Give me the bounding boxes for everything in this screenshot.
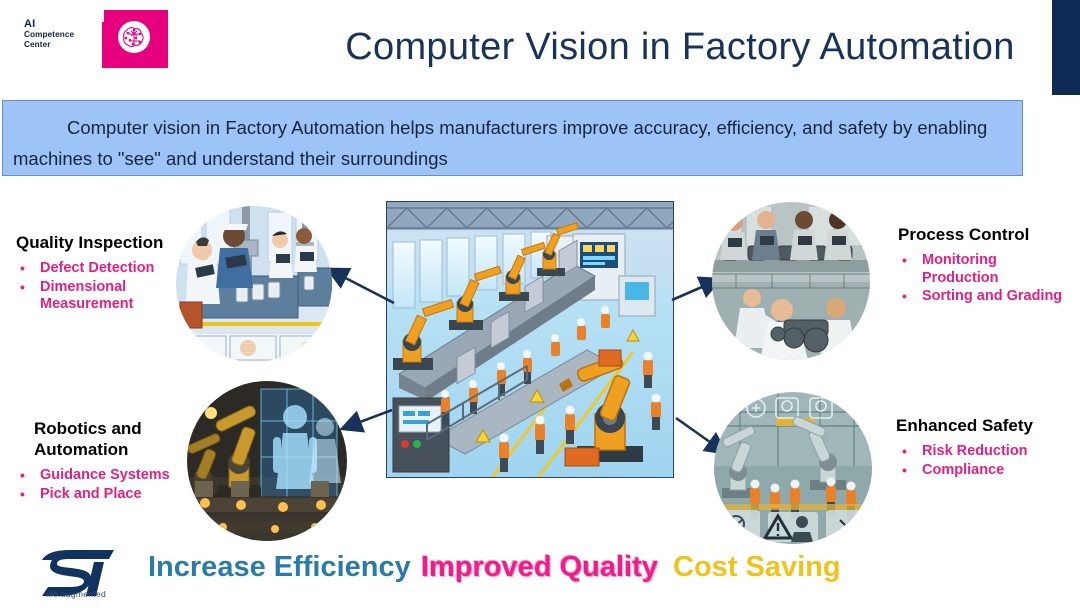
brain-network-icon bbox=[88, 10, 168, 68]
bullet-dot-icon: • bbox=[902, 288, 907, 306]
slide: AI Competence Center Computer Vision in … bbox=[0, 0, 1080, 608]
list-item: •Risk Reduction bbox=[896, 443, 1076, 461]
bullet-dot-icon: • bbox=[902, 252, 907, 270]
arrow-to-robotics bbox=[344, 410, 392, 428]
process-control-image bbox=[712, 202, 870, 360]
ai-competence-center-logo: AI Competence Center bbox=[14, 8, 174, 70]
logo-line-ai: AI bbox=[24, 18, 86, 30]
bullet-dot-icon: • bbox=[902, 462, 907, 480]
arrow-to-quality bbox=[330, 270, 394, 303]
panel-title-process-control: Process Control bbox=[896, 224, 1076, 245]
bullet-label: Sorting and Grading bbox=[922, 288, 1062, 304]
list-item: •Compliance bbox=[896, 462, 1076, 480]
bullet-label: Pick and Place bbox=[40, 486, 142, 502]
bullet-label: Compliance bbox=[922, 462, 1004, 478]
panel-bullets-robotics-automation: •Guidance Systems •Pick and Place bbox=[14, 467, 199, 503]
panel-robotics-automation: Robotics and Automation •Guidance System… bbox=[14, 418, 199, 504]
bullet-label: Monitoring Production bbox=[922, 252, 999, 286]
list-item: •Guidance Systems bbox=[14, 467, 199, 485]
bullet-dot-icon: • bbox=[902, 443, 907, 461]
list-item: •Dimensional Measurement bbox=[14, 279, 194, 314]
list-item: •Pick and Place bbox=[14, 486, 199, 504]
logo-line-competence: Competence bbox=[24, 30, 86, 40]
panel-enhanced-safety: Enhanced Safety •Risk Reduction •Complia… bbox=[896, 415, 1076, 480]
panel-bullets-quality-inspection: •Defect Detection •Dimensional Measureme… bbox=[14, 260, 194, 314]
footer-benefit-improved-quality: Improved Quality bbox=[421, 551, 658, 584]
list-item: •Defect Detection bbox=[14, 260, 194, 278]
panel-title-enhanced-safety: Enhanced Safety bbox=[896, 415, 1076, 436]
bullet-label: Risk Reduction bbox=[922, 443, 1028, 459]
bullet-label: Defect Detection bbox=[40, 260, 154, 276]
list-item: •Sorting and Grading bbox=[896, 288, 1076, 306]
bullet-dot-icon: • bbox=[20, 467, 25, 485]
panel-process-control: Process Control •Monitoring Production •… bbox=[896, 224, 1076, 307]
panel-quality-inspection: Quality Inspection •Defect Detection •Di… bbox=[14, 232, 194, 315]
list-item: •Monitoring Production bbox=[896, 252, 1076, 287]
bullet-dot-icon: • bbox=[20, 279, 25, 297]
robotics-automation-image bbox=[187, 381, 347, 541]
st-tagline: life.augmented bbox=[30, 589, 122, 599]
footer-benefit-cost-saving: Cost Saving bbox=[673, 551, 841, 584]
factory-floor-image bbox=[386, 201, 674, 478]
panel-bullets-enhanced-safety: •Risk Reduction •Compliance bbox=[896, 443, 1076, 479]
bullet-label: Dimensional Measurement bbox=[40, 279, 133, 313]
panel-title-quality-inspection: Quality Inspection bbox=[14, 232, 194, 253]
logo-line-center: Center bbox=[24, 40, 86, 50]
summary-banner: Computer vision in Factory Automation he… bbox=[2, 100, 1023, 176]
panel-bullets-process-control: •Monitoring Production •Sorting and Grad… bbox=[896, 252, 1076, 306]
logo-text: AI Competence Center bbox=[24, 18, 86, 49]
footer-benefit-increase-efficiency: Increase Efficiency bbox=[148, 551, 411, 584]
enhanced-safety-image bbox=[714, 392, 872, 544]
quality-inspection-image bbox=[176, 206, 332, 362]
summary-banner-text: Computer vision in Factory Automation he… bbox=[13, 112, 1009, 174]
bullet-dot-icon: • bbox=[20, 260, 25, 278]
bullet-label: Guidance Systems bbox=[40, 467, 170, 483]
bullet-dot-icon: • bbox=[20, 486, 25, 504]
panel-title-robotics-automation: Robotics and Automation bbox=[14, 418, 199, 460]
page-title: Computer Vision in Factory Automation bbox=[300, 26, 1060, 69]
